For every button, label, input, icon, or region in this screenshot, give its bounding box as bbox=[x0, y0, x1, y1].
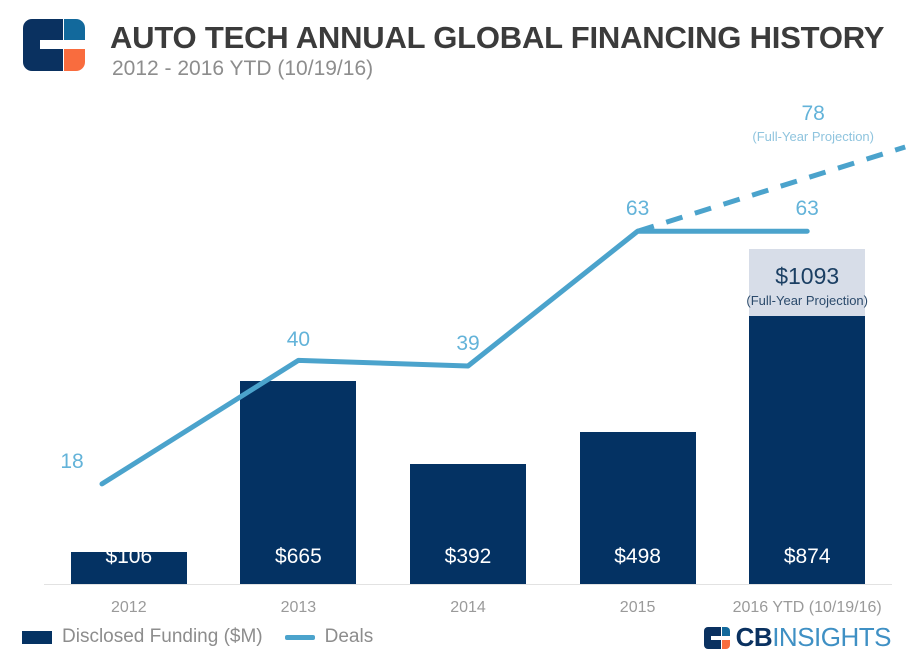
footer-logo-square-orange bbox=[722, 640, 730, 649]
footer-brand: CB INSIGHTS bbox=[704, 622, 891, 653]
page-subtitle: 2012 - 2016 YTD (10/19/16) bbox=[112, 57, 373, 81]
projection-funding-value: $1093 bbox=[717, 263, 897, 290]
legend-swatch-funding bbox=[22, 631, 52, 644]
projection-funding-note: (Full-Year Projection) bbox=[677, 293, 909, 308]
legend-label-deals: Deals bbox=[325, 626, 374, 648]
x-axis-tick-label: 2016 YTD (10/19/16) bbox=[697, 599, 909, 617]
page-title: AUTO TECH ANNUAL GLOBAL FINANCING HISTOR… bbox=[110, 20, 884, 56]
projection-deals-current: 63 bbox=[777, 197, 837, 221]
legend-swatch-deals bbox=[285, 635, 315, 640]
footer-logo-c-notch bbox=[711, 636, 722, 640]
deals-line-projection-dashed bbox=[638, 147, 906, 231]
logo-square-orange bbox=[64, 49, 85, 71]
footer-brand-cb: CB bbox=[736, 622, 773, 653]
projection-deals-note: (Full-Year Projection) bbox=[683, 129, 909, 144]
deals-point-label: 40 bbox=[268, 328, 328, 352]
footer-brand-insights: INSIGHTS bbox=[772, 622, 891, 653]
deals-point-label: 63 bbox=[608, 197, 668, 221]
projection-deals-value: 78 bbox=[733, 102, 893, 126]
deals-point-label: 18 bbox=[42, 450, 102, 474]
plot-area: $106$665$392$498$874 1840396363 78 (Full… bbox=[0, 92, 909, 585]
deals-point-label: 39 bbox=[438, 332, 498, 356]
x-axis-ticks: 20122013201420152016 YTD (10/19/16) bbox=[0, 590, 909, 620]
footer-logo-square-blue bbox=[722, 627, 730, 636]
legend-label-funding: Disclosed Funding ($M) bbox=[62, 626, 263, 648]
logo-c-notch bbox=[40, 40, 65, 49]
cb-insights-logo-icon bbox=[704, 627, 730, 649]
chart-header: AUTO TECH ANNUAL GLOBAL FINANCING HISTOR… bbox=[0, 0, 909, 92]
chart-page: AUTO TECH ANNUAL GLOBAL FINANCING HISTOR… bbox=[0, 0, 909, 661]
chart-legend: Disclosed Funding ($M) Deals bbox=[22, 624, 395, 650]
deals-line-solid bbox=[102, 231, 807, 484]
cb-insights-logo-icon bbox=[23, 19, 85, 71]
logo-square-blue bbox=[64, 19, 85, 40]
x-axis-line bbox=[44, 584, 892, 585]
